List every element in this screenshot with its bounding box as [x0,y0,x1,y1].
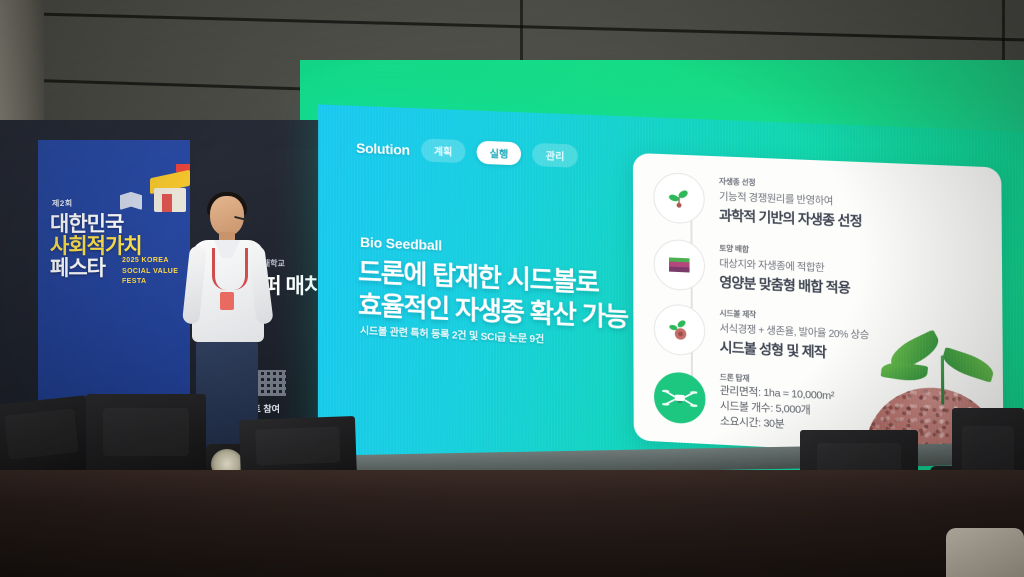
process-card: 자생종 선정 기능적 경쟁원리를 반영하여 과학적 기반의 자생종 선정 토양 … [633,153,1004,459]
drone-icon [654,371,706,424]
book-illustration-icon [120,192,142,210]
audience-chair [946,528,1024,577]
process-step-row: 시드볼 제작 서식경쟁 + 생존율, 발아율 20% 상승 시드볼 성형 및 제… [654,303,869,364]
lanyard-icon [212,248,248,290]
presenter-badge [220,292,234,310]
process-step-row: 드론 탑재 관리면적: 1ha = 10,000m² 시드볼 개수: 5,000… [654,368,834,434]
step-text: 자생종 선정 기능적 경쟁원리를 반영하여 과학적 기반의 자생종 선정 [719,176,862,231]
banner-english-subtitle: 2025 KOREA SOCIAL VALUE FESTA [122,256,178,288]
sprout-stem-shape [941,355,944,404]
stage-front-face [0,470,1024,577]
tab-pill-manage[interactable]: 관리 [533,143,578,168]
leaf-shape [881,359,928,383]
solution-label: Solution [356,139,410,157]
step-text: 시드볼 제작 서식경쟁 + 생존율, 발아율 20% 상승 시드볼 성형 및 제… [719,307,868,363]
step-text: 토양 배합 대상지와 자생종에 적합한 영양분 맞춤형 배합 적용 [719,242,850,297]
leaf-shape [885,329,944,372]
presentation-slide: Solution 계획 실행 관리 Bio Seedball 드론에 탑재한 시… [318,104,1024,502]
seedball-icon [654,303,706,356]
wall-seam [0,10,1024,44]
leaf-shape [940,347,996,383]
banner-title-line3: 페스타 [50,252,105,282]
slide-eyebrow: Bio Seedball [360,234,442,254]
tab-pill-execute[interactable]: 실행 [477,141,522,166]
tab-pill-plan[interactable]: 계획 [421,138,466,163]
sprout-icon [653,172,704,225]
slide-header: Solution 계획 실행 관리 [356,136,578,168]
door-shape [162,194,172,212]
conference-stage-photo: 제2회 대한민국 사회적가치 페스타 2025 KOREA SOCIAL VAL… [0,0,1024,577]
stage-speaker [86,394,206,480]
process-step-row: 자생종 선정 기능적 경쟁원리를 반영하여 과학적 기반의 자생종 선정 [653,172,862,231]
step-text: 드론 탑재 관리면적: 1ha = 10,000m² 시드볼 개수: 5,000… [720,371,834,434]
soil-layers-icon [654,239,705,292]
process-step-row: 토양 배합 대상지와 자생종에 적합한 영양분 맞춤형 배합 적용 [654,239,851,298]
